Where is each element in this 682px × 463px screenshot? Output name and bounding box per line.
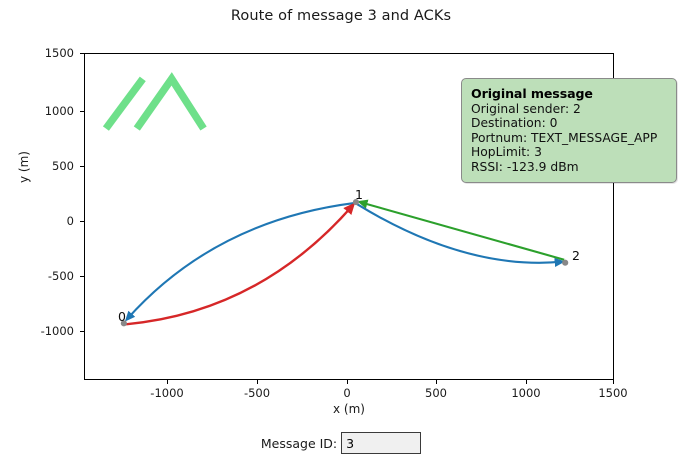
x-tick-label: 0: [343, 386, 350, 400]
message-info-destination: Destination: 0: [471, 116, 667, 130]
message-id-label: Message ID:: [261, 436, 337, 451]
y-tick-label: 1500: [28, 46, 74, 60]
y-axis-label: y (m): [17, 67, 31, 267]
message-info-panel: Original message Original sender: 2 Dest…: [461, 78, 677, 183]
y-tick-label: 0: [28, 214, 74, 228]
x-tick-mark: [526, 380, 527, 384]
terrain-slope-icon: [106, 79, 143, 129]
route-edges: [125, 202, 564, 324]
widget-bar: Message ID:: [0, 426, 682, 460]
node-label-1: 1: [355, 187, 363, 202]
y-tick-label: -500: [28, 269, 74, 283]
x-axis-label: x (m): [84, 402, 614, 416]
y-tick-label: 500: [28, 159, 74, 173]
x-tick-label: -1000: [150, 386, 183, 400]
message-info-portnum: Portnum: TEXT_MESSAGE_APP: [471, 131, 667, 145]
node-markers: [121, 199, 569, 326]
y-tick-label: -1000: [28, 324, 74, 338]
x-tick-label: -500: [244, 386, 270, 400]
message-info-title: Original message: [471, 86, 667, 101]
node-label-2: 2: [572, 248, 580, 263]
x-tick-label: 1000: [511, 386, 540, 400]
page-title: Route of message 3 and ACKs: [0, 8, 682, 24]
x-tick-mark: [436, 380, 437, 384]
y-tick-label: 1000: [28, 104, 74, 118]
x-tick-label: 500: [425, 386, 447, 400]
x-tick-mark: [257, 380, 258, 384]
message-id-input[interactable]: [341, 432, 421, 454]
x-tick-mark: [167, 380, 168, 384]
x-tick-mark: [613, 380, 614, 384]
node-marker-2[interactable]: [562, 260, 568, 266]
message-info-sender: Original sender: 2: [471, 102, 667, 116]
message-info-rssi: RSSI: -123.9 dBm: [471, 160, 667, 174]
message-id-control: Message ID:: [261, 432, 421, 454]
node-label-0: 0: [118, 309, 126, 324]
x-tick-mark: [347, 380, 348, 384]
route-edge-fwd-1-to-2: [357, 204, 562, 263]
message-info-hoplimit: HopLimit: 3: [471, 145, 667, 159]
route-edge-msg-0-to-1: [125, 205, 353, 324]
route-edge-ack-1-to-0: [127, 203, 354, 319]
terrain-peak-icon: [137, 79, 204, 129]
figure-canvas: Route of message 3 and ACKs 1500 1000 50…: [0, 0, 682, 463]
x-tick-label: 1500: [598, 386, 627, 400]
terrain-shapes: [106, 79, 204, 129]
